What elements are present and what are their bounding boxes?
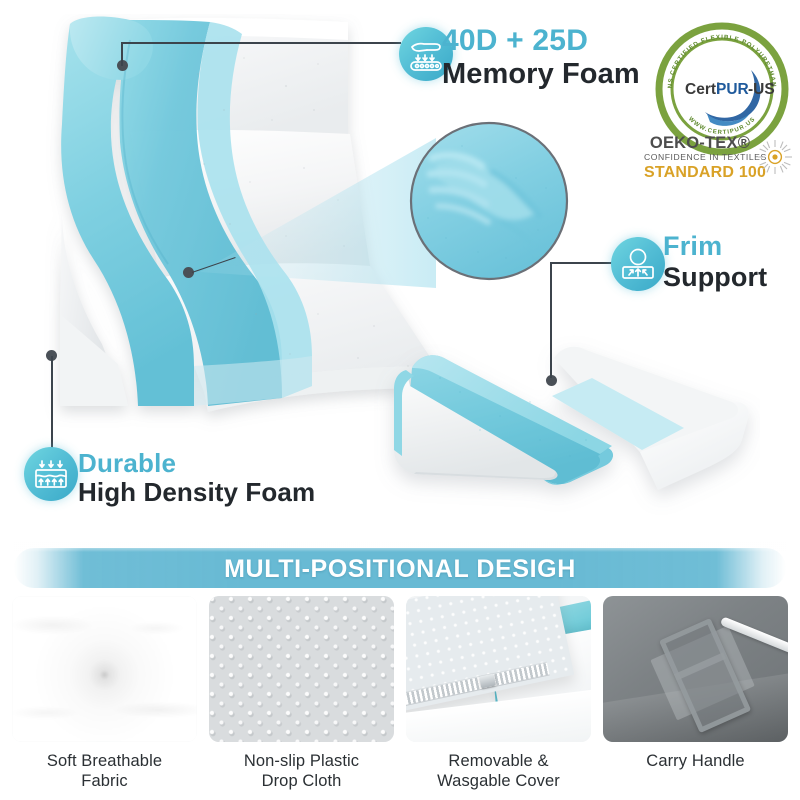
oeko-tex-sunburst-icon xyxy=(756,138,794,176)
thumb-soft-breathable-fabric[interactable] xyxy=(12,596,197,742)
thumb-removable-washable-cover[interactable] xyxy=(406,596,591,742)
leader-line-memory-foam-vertical xyxy=(121,42,123,66)
callout-firm-support-line1: Frim xyxy=(663,232,767,260)
thumb-non-slip-drop-cloth[interactable] xyxy=(209,596,394,742)
callout-memory-foam-line2: Memory Foam xyxy=(442,59,640,89)
thumb-carry-handle[interactable] xyxy=(603,596,788,742)
callout-durable-line1: Durable xyxy=(78,450,315,477)
leader-line-firm-horizontal xyxy=(550,262,612,264)
callout-memory-foam-line1: 40D + 25D xyxy=(442,25,640,56)
handprint-foam-zoom-inset xyxy=(406,118,572,284)
leader-line-firm-vertical xyxy=(550,262,552,378)
caption-removable-washable-cover: Removable &Wasgable Cover xyxy=(406,751,591,791)
oeko-tex-line3: STANDARD 100 xyxy=(644,164,756,182)
leader-line-memory-foam-horizontal xyxy=(121,42,401,44)
callout-memory-foam-label: 40D + 25D Memory Foam xyxy=(442,25,640,89)
callout-firm-support-line2: Support xyxy=(663,263,767,291)
certipur-registered-mark: ® xyxy=(770,82,775,89)
oeko-tex-line1: OEKO-TEX® xyxy=(644,134,756,153)
banner-title: MULTI-POSITIONAL DESIGH xyxy=(0,553,800,585)
zippered-cover-image xyxy=(406,596,591,742)
callout-firm-support-label: Frim Support xyxy=(663,232,767,291)
oeko-tex-line2: CONFIDENCE IN TEXTILES xyxy=(644,152,756,162)
head-support-icon xyxy=(611,237,665,291)
feature-non-slip-drop-cloth[interactable]: Non-slip PlasticDrop Cloth xyxy=(209,596,394,791)
caption-carry-handle: Carry Handle xyxy=(603,751,788,771)
feature-soft-breathable-fabric[interactable]: Soft BreathableFabric xyxy=(12,596,197,791)
certipur-wordmark-pur: PUR xyxy=(716,81,749,98)
infographic-canvas: 40D + 25D Memory Foam Frim Support xyxy=(0,0,800,800)
magnifier-cone xyxy=(192,120,532,340)
oeko-tex-badge: OEKO-TEX® CONFIDENCE IN TEXTILES STANDAR… xyxy=(644,134,794,186)
callout-durable-label: Durable High Density Foam xyxy=(78,450,315,506)
density-arrows-icon xyxy=(24,447,78,501)
feature-removable-washable-cover[interactable]: Removable &Wasgable Cover xyxy=(406,596,591,791)
white-swirled-fabric-image xyxy=(12,596,197,742)
feature-grid: Soft BreathableFabric Non-slip PlasticDr… xyxy=(0,596,800,800)
gray-dotted-nonslip-image xyxy=(209,596,394,742)
callout-durable-line2: High Density Foam xyxy=(78,479,315,506)
leader-line-durable-vertical xyxy=(51,356,53,448)
leader-line-center-foam xyxy=(192,257,236,273)
gray-carry-handle-image xyxy=(603,596,788,742)
caption-soft-breathable-fabric: Soft BreathableFabric xyxy=(12,751,197,791)
feature-carry-handle[interactable]: Carry Handle xyxy=(603,596,788,771)
caption-non-slip-drop-cloth: Non-slip PlasticDrop Cloth xyxy=(209,751,394,791)
